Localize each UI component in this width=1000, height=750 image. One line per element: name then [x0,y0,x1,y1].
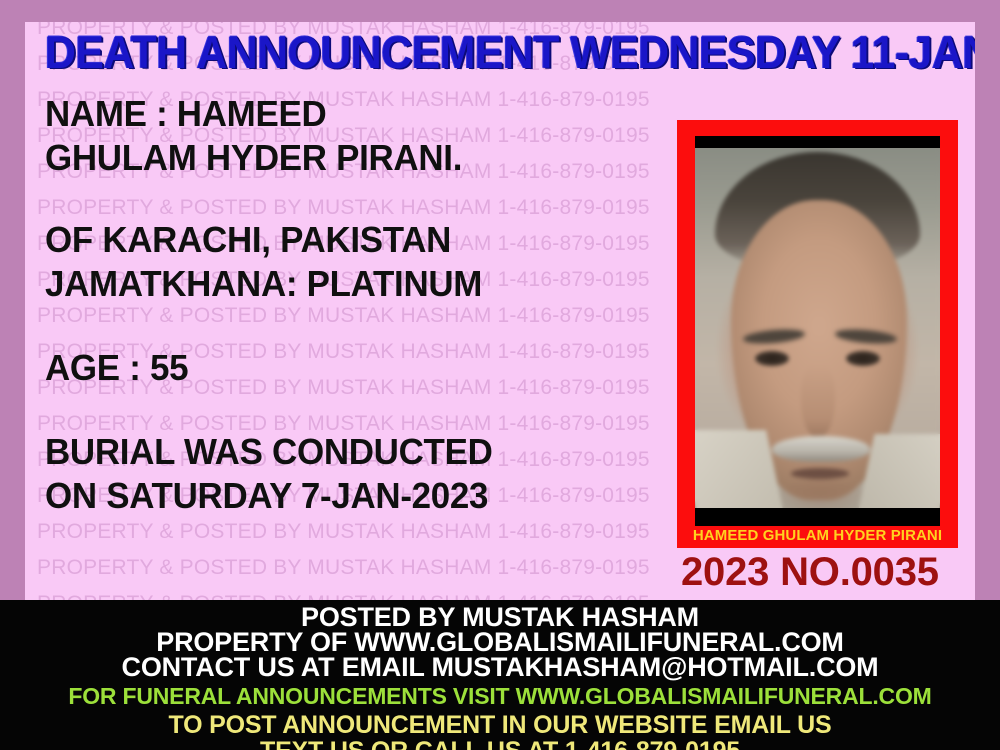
spacer-2 [45,306,665,346]
spacer-3 [45,390,665,430]
spacer-1 [45,180,665,218]
footer-bar: POSTED BY MUSTAK HASHAM PROPERTY OF WWW.… [0,600,1000,750]
watermark-line: PROPERTY & POSTED BY MUSTAK HASHAM 1-416… [37,556,650,580]
portrait-bottom-bar [695,508,940,526]
announcement-details: NAME : HAMEED GHULAM HYDER PIRANI. OF KA… [45,92,665,518]
watermark-line: PROPERTY & POSTED BY MUSTAK HASHAM 1-416… [37,592,650,600]
jamatkhana-line: JAMATKHANA: PLATINUM [45,262,646,306]
portrait-image [695,136,940,526]
watermark-line: PROPERTY & POSTED BY MUSTAK HASHAM 1-416… [37,520,650,544]
header-bar: DEATH ANNOUNCEMENT WEDNESDAY 11-JAN-2023 [25,22,975,84]
footer-posted-by: POSTED BY MUSTAK HASHAM [0,600,1000,630]
portrait-blur-overlay [695,148,940,508]
announcement-panel: PROPERTY & POSTED BY MUSTAK HASHAM 1-416… [25,22,975,600]
footer-website-link[interactable]: FOR FUNERAL ANNOUNCEMENTS VISIT WWW.GLOB… [0,680,1000,709]
page-title: DEATH ANNOUNCEMENT WEDNESDAY 11-JAN-2023 [45,30,975,76]
footer-phone: TEXT US OR CALL US AT 1-416-879-0195 [0,738,1000,750]
portrait-card: HAMEED GHULAM HYDER PIRANI [677,120,958,548]
origin-line: OF KARACHI, PAKISTAN [45,218,646,262]
death-announcement-poster: PROPERTY & POSTED BY MUSTAK HASHAM 1-416… [0,0,1000,750]
name-line-1: NAME : HAMEED [45,92,646,136]
reference-number: 2023 NO.0035 [681,550,975,594]
age-line: AGE : 55 [45,346,646,390]
name-line-2: GHULAM HYDER PIRANI. [45,136,646,180]
portrait-photo [695,148,940,508]
burial-line-1: BURIAL WAS CONDUCTED [45,430,646,474]
footer-post-info: TO POST ANNOUNCEMENT IN OUR WEBSITE EMAI… [0,709,1000,738]
portrait-top-bar [695,136,940,148]
footer-contact-email: CONTACT US AT EMAIL MUSTAKHASHAM@HOTMAIL… [0,655,1000,680]
burial-line-2: ON SATURDAY 7-JAN-2023 [45,474,646,518]
portrait-caption: HAMEED GHULAM HYDER PIRANI [677,527,958,544]
